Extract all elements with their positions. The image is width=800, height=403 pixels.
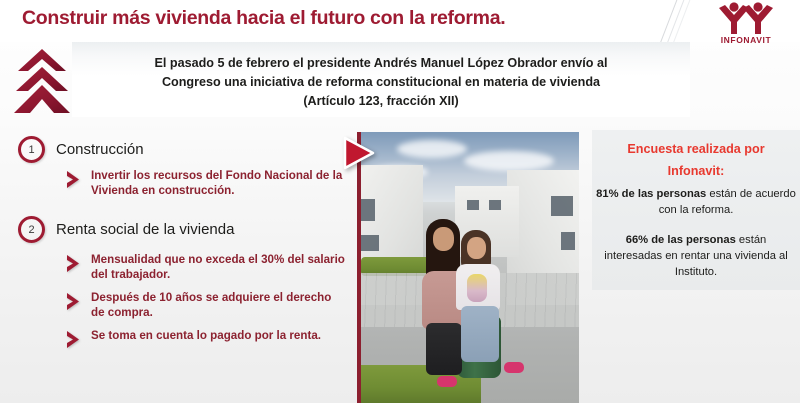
photo-cloud [397,140,467,158]
survey-stat-2: 66% de las personas están interesadas en… [596,232,796,280]
bullet-text: Después de 10 años se adquiere el derech… [91,291,348,320]
infonavit-logo: INFONAVIT [698,2,794,50]
photo-girl [457,230,501,371]
bullet-item: Invertir los recursos del Fondo Nacional… [65,169,348,198]
bullet-text: Invertir los recursos del Fondo Nacional… [91,169,348,198]
list-item-title-2: Renta social de la vivienda [56,221,234,238]
photo-shoe [437,376,457,387]
logo-wordmark: INFONAVIT [698,35,794,45]
play-triangle-icon[interactable] [343,136,375,170]
number-badge-1: 1 [18,136,45,163]
statement-line-2: Congreso una iniciativa de reforma const… [162,73,600,92]
survey-stat-1: 81% de las personas están de acuerdo con… [596,186,796,218]
bullet-item: Se toma en cuenta lo pagado por la renta… [65,329,348,349]
stacked-chevron-tree-icon [8,47,76,119]
chevron-right-icon [65,292,82,311]
photo-image [357,132,579,403]
bullet-text: Mensualidad que no exceda el 30% del sal… [91,253,348,282]
list-item-renta-social: 2 Renta social de la vivienda Mensualida… [18,216,348,349]
slide: Construir más vivienda hacia el futuro c… [0,0,800,403]
numbered-list: 1 Construcción Invertir los recursos del… [18,136,348,358]
statement-line-1: El pasado 5 de febrero el presidente And… [154,54,607,73]
bullet-item: Mensualidad que no exceda el 30% del sal… [65,253,348,282]
chevron-right-icon [65,330,82,349]
photo-cloud [464,151,554,171]
page-title: Construir más vivienda hacia el futuro c… [22,7,505,30]
list-item-title-1: Construcción [56,141,144,158]
list-item-construccion: 1 Construcción Invertir los recursos del… [18,136,348,198]
photo-left-stripe [357,132,361,403]
infonavit-people-logo-icon [717,2,775,35]
bullet-text: Se toma en cuenta lo pagado por la renta… [91,329,321,344]
photo-housing-family [357,132,579,403]
survey-panel: Encuesta realizada por Infonavit: 81% de… [592,130,800,290]
list-item-header: 2 Renta social de la vivienda [18,216,348,243]
survey-title-line-2: Infonavit: [596,160,796,182]
survey-stat-1-highlight: 81% de las personas [596,188,706,200]
photo-shoe [504,362,524,373]
number-badge-2: 2 [18,216,45,243]
survey-stat-2-highlight: 66% de las personas [626,234,736,246]
bullet-item: Después de 10 años se adquiere el derech… [65,291,348,320]
chevron-right-icon [65,170,82,189]
chevron-right-icon [65,254,82,273]
statement-line-3: (Artículo 123, fracción XII) [303,92,458,111]
survey-title-line-1: Encuesta realizada por [596,138,796,160]
header-bar: Construir más vivienda hacia el futuro c… [0,0,800,42]
list-item-header: 1 Construcción [18,136,348,163]
statement-box: El pasado 5 de febrero el presidente And… [72,42,690,117]
